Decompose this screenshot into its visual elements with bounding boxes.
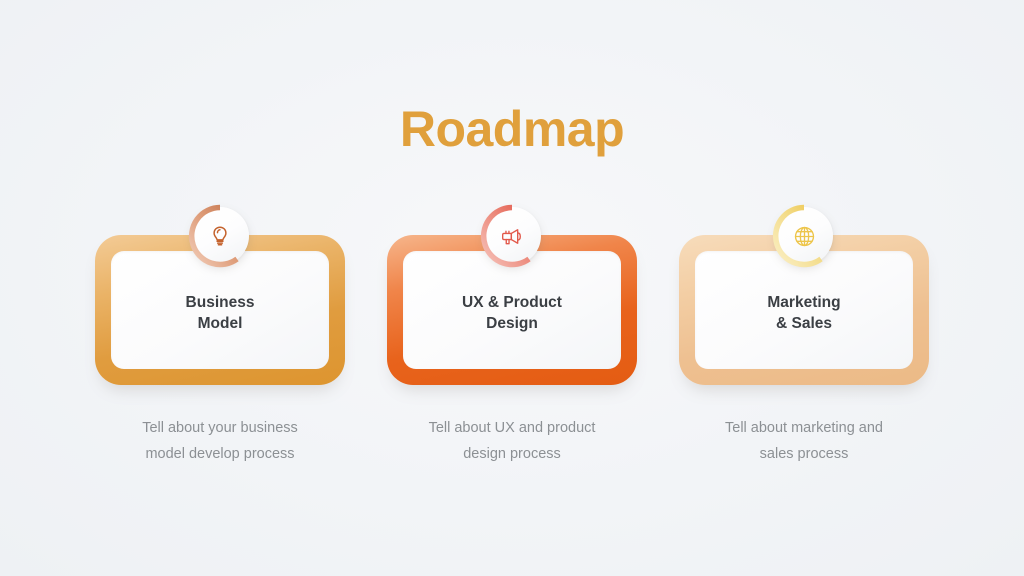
card-icon-badge — [483, 207, 541, 265]
roadmap-card-business-model[interactable]: Business Model — [95, 235, 345, 385]
roadmap-card-marketing-sales[interactable]: Marketing & Sales — [679, 235, 929, 385]
lightbulb-icon — [191, 207, 249, 265]
card-label: UX & Product Design — [387, 293, 637, 334]
roadmap-card-ux-product-design[interactable]: UX & Product Design — [387, 235, 637, 385]
captions-row: Tell about your business model develop p… — [0, 415, 1024, 468]
card-caption: Tell about your business model develop p… — [95, 415, 345, 468]
card-caption: Tell about marketing and sales process — [679, 415, 929, 468]
card-label: Marketing & Sales — [679, 293, 929, 334]
megaphone-icon — [483, 207, 541, 265]
card-label: Business Model — [95, 293, 345, 334]
card-caption: Tell about UX and product design process — [387, 415, 637, 468]
card-icon-badge — [191, 207, 249, 265]
globe-icon — [775, 207, 833, 265]
card-icon-badge — [775, 207, 833, 265]
roadmap-cards-row: Business Model — [0, 235, 1024, 385]
page-title: Roadmap — [0, 104, 1024, 154]
page-title-container: Roadmap — [0, 104, 1024, 154]
